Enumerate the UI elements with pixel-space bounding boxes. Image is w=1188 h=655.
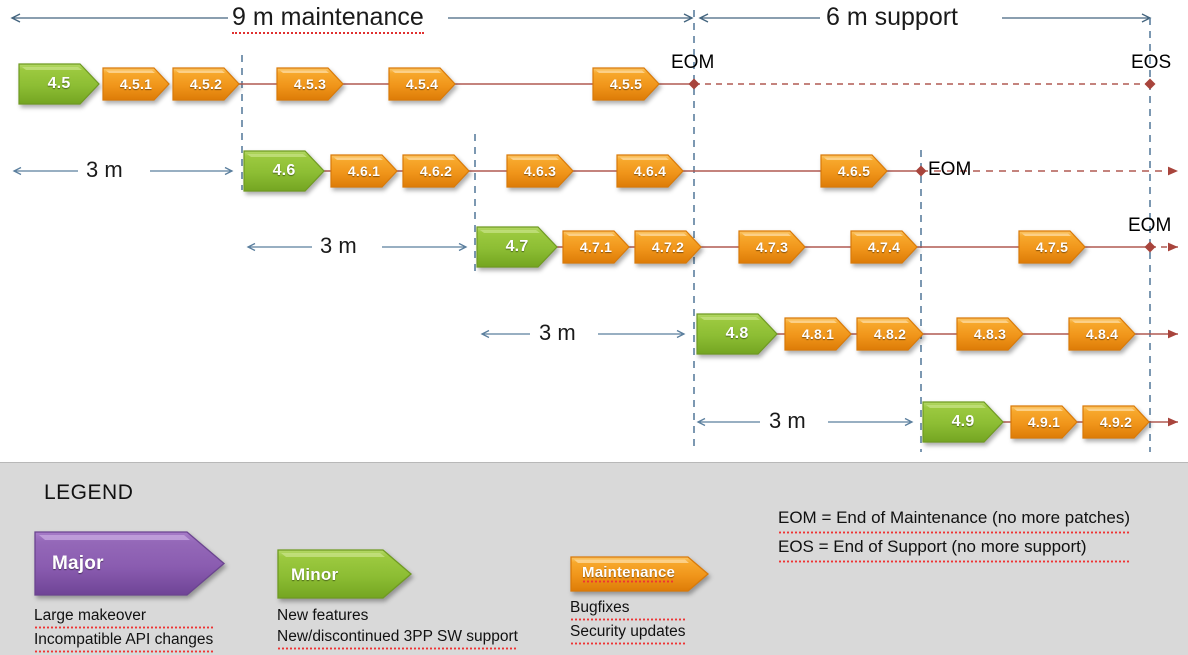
chevron-label: 4.5.3 [294, 77, 326, 91]
release-chevron-minor-4-6[interactable]: 4.6 [243, 149, 325, 193]
release-chevron-minor-4-9[interactable]: 4.9 [922, 400, 1004, 444]
chevron-label: 4.6.2 [420, 164, 452, 178]
release-chevron-maint-4-8-1[interactable]: 4.8.1 [784, 316, 852, 352]
chevron-label: 4.7 [506, 239, 529, 255]
eom-diamond-4-6 [916, 166, 927, 177]
eom-diamond-4-5 [689, 79, 700, 90]
legend-desc-major: Large makeover Incompatible API changes [34, 605, 213, 653]
chevron-label: 4.9 [952, 414, 975, 430]
release-chevron-maint-4-7-3[interactable]: 4.7.3 [738, 229, 806, 265]
release-chevron-maint-4-8-2[interactable]: 4.8.2 [856, 316, 924, 352]
legend-desc-maintenance: Bugfixes Security updates [570, 597, 685, 645]
legend-chevron-major[interactable]: Major [34, 529, 226, 598]
release-chevron-maint-4-9-1[interactable]: 4.9.1 [1010, 404, 1078, 440]
chevron-label: 4.6.5 [838, 164, 870, 178]
eom-label-4-7: EOM [1128, 215, 1171, 237]
release-chevron-maint-4-5-1[interactable]: 4.5.1 [102, 66, 170, 102]
gap-label-2: 3 m [320, 233, 357, 259]
legend-title: LEGEND [44, 481, 133, 505]
chevron-label: 4.8 [726, 326, 749, 342]
header-support-label: 6 m support [826, 3, 958, 32]
legend-chevron-maintenance[interactable]: Maintenance [570, 555, 710, 593]
eom-label-4-5: EOM [671, 52, 714, 74]
release-chevron-maint-4-5-5[interactable]: 4.5.5 [592, 66, 660, 102]
legend-chevron-minor[interactable]: Minor [277, 548, 413, 600]
chevron-label: 4.7.5 [1036, 240, 1068, 254]
chevron-label: 4.5.1 [120, 77, 152, 91]
header-maintenance-label: 9 m maintenance [232, 3, 424, 32]
chevron-label: 4.5.5 [610, 77, 642, 91]
chevron-label: 4.9.1 [1028, 415, 1060, 429]
chevron-label: 4.8.4 [1086, 327, 1118, 341]
release-chevron-maint-4-5-2[interactable]: 4.5.2 [172, 66, 240, 102]
chevron-label: 4.6 [273, 163, 296, 179]
release-chevron-maint-4-6-4[interactable]: 4.6.4 [616, 153, 684, 189]
release-chevron-maint-4-6-5[interactable]: 4.6.5 [820, 153, 888, 189]
release-chevron-maint-4-6-1[interactable]: 4.6.1 [330, 153, 398, 189]
chevron-label: 4.5 [48, 76, 71, 92]
chevron-label: 4.9.2 [1100, 415, 1132, 429]
release-chevron-minor-4-8[interactable]: 4.8 [696, 312, 778, 356]
legend-desc-minor: New features New/discontinued 3PP SW sup… [277, 605, 518, 650]
release-chevron-maint-4-8-4[interactable]: 4.8.4 [1068, 316, 1136, 352]
legend-panel: LEGEND Major Large makeover Incompatible… [0, 462, 1188, 655]
release-chevron-minor-4-5[interactable]: 4.5 [18, 62, 100, 106]
release-chevron-maint-4-7-5[interactable]: 4.7.5 [1018, 229, 1086, 265]
gap-label-4: 3 m [769, 408, 806, 434]
legend-chevron-label: Minor [291, 566, 338, 583]
legend-chevron-label: Maintenance [582, 565, 675, 583]
row-4-5-lines [230, 79, 1156, 90]
chevron-label: 4.5.2 [190, 77, 222, 91]
gap-label-1: 3 m [86, 157, 123, 183]
chevron-label: 4.7.2 [652, 240, 684, 254]
eom-definition: EOM = End of Maintenance (no more patche… [778, 505, 1130, 534]
release-chevron-maint-4-5-3[interactable]: 4.5.3 [276, 66, 344, 102]
release-chevron-maint-4-6-2[interactable]: 4.6.2 [402, 153, 470, 189]
chevron-label: 4.8.3 [974, 327, 1006, 341]
release-chevron-maint-4-7-1[interactable]: 4.7.1 [562, 229, 630, 265]
release-chevron-minor-4-7[interactable]: 4.7 [476, 225, 558, 269]
eos-diamond-4-5 [1145, 79, 1156, 90]
chevron-label: 4.8.2 [874, 327, 906, 341]
release-chevron-maint-4-8-3[interactable]: 4.8.3 [956, 316, 1024, 352]
release-chevron-maint-4-7-2[interactable]: 4.7.2 [634, 229, 702, 265]
chevron-label: 4.6.3 [524, 164, 556, 178]
chevron-label: 4.5.4 [406, 77, 438, 91]
release-chevron-maint-4-6-3[interactable]: 4.6.3 [506, 153, 574, 189]
diagram-root: 9 m maintenance 6 m support 3 m 3 m 3 m … [0, 0, 1188, 654]
legend-marker-definitions: EOM = End of Maintenance (no more patche… [778, 505, 1130, 563]
eos-definition: EOS = End of Support (no more support) [778, 534, 1130, 563]
release-chevron-maint-4-9-2[interactable]: 4.9.2 [1082, 404, 1150, 440]
eom-label-4-6: EOM [928, 159, 971, 181]
release-chevron-maint-4-7-4[interactable]: 4.7.4 [850, 229, 918, 265]
eos-label-4-5: EOS [1131, 52, 1171, 74]
chevron-label: 4.6.1 [348, 164, 380, 178]
chevron-label: 4.7.1 [580, 240, 612, 254]
chevron-label: 4.8.1 [802, 327, 834, 341]
eom-diamond-4-7 [1145, 242, 1156, 253]
chevron-label: 4.7.3 [756, 240, 788, 254]
chevron-label: 4.7.4 [868, 240, 900, 254]
chevron-label: 4.6.4 [634, 164, 666, 178]
release-chevron-maint-4-5-4[interactable]: 4.5.4 [388, 66, 456, 102]
gap-label-3: 3 m [539, 320, 576, 346]
timeline-area: 9 m maintenance 6 m support 3 m 3 m 3 m … [0, 0, 1188, 462]
legend-chevron-label: Major [52, 554, 104, 573]
